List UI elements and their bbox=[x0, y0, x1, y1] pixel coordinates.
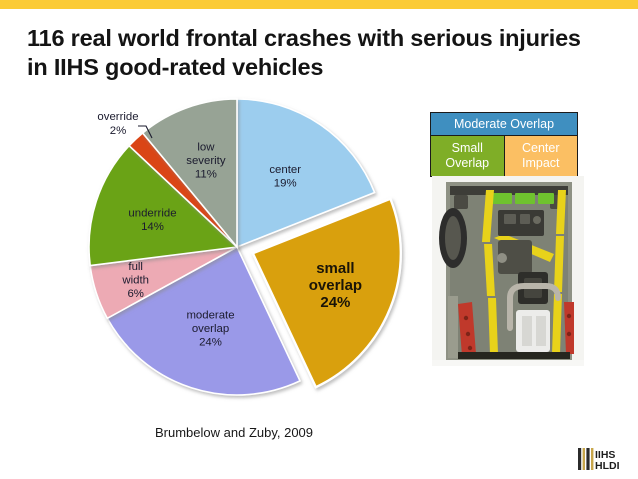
pie-label-full-width-line3: 6% bbox=[127, 288, 143, 300]
pie-label-moderate-overlap-line1: moderate bbox=[186, 310, 234, 322]
legend-cell-small-overlap-line1: Small bbox=[452, 141, 483, 156]
pie-label-underride-line2: 14% bbox=[141, 221, 164, 233]
pie-chart: center19%smalloverlap24%moderateoverlap2… bbox=[80, 90, 410, 410]
iihs-hldi-logo: IIHS HLDI bbox=[578, 447, 624, 473]
pie-slices-group bbox=[89, 99, 401, 395]
logo-text-hldi: HLDI bbox=[595, 460, 620, 472]
pie-label-low-severity-line3: 11% bbox=[195, 169, 217, 181]
pie-label-small-overlap-line1: small bbox=[316, 260, 354, 277]
pie-chart-svg: center19%smalloverlap24%moderateoverlap2… bbox=[80, 90, 410, 410]
pie-callout-override-line1: override bbox=[97, 111, 138, 123]
pie-label-moderate-overlap-line3: 24% bbox=[199, 337, 222, 349]
vehicle-underbody-svg bbox=[432, 176, 584, 366]
slide-root: 116 real world frontal crashes with seri… bbox=[0, 0, 638, 479]
legend-cell-center-impact-line1: Center bbox=[522, 141, 560, 156]
source-caption: Brumbelow and Zuby, 2009 bbox=[155, 425, 313, 440]
vehicle-underbody-photo bbox=[432, 176, 584, 366]
pie-label-moderate-overlap-line2: overlap bbox=[192, 323, 229, 335]
legend-row: Small Overlap Center Impact bbox=[431, 136, 577, 176]
pie-label-full-width-line1: full bbox=[128, 261, 143, 273]
iihs-hldi-logo-svg: IIHS HLDI bbox=[578, 447, 624, 473]
legend-cell-center-impact-line2: Impact bbox=[522, 156, 560, 171]
pie-label-small-overlap-line3: 24% bbox=[320, 294, 350, 311]
top-accent-bar bbox=[0, 0, 638, 9]
pie-label-small-overlap-line2: overlap bbox=[309, 277, 362, 294]
pie-callout-override-line2: 2% bbox=[110, 125, 126, 137]
pie-label-underride-line1: underride bbox=[128, 207, 176, 219]
legend-cell-small-overlap-line2: Overlap bbox=[445, 156, 489, 171]
page-title: 116 real world frontal crashes with seri… bbox=[27, 24, 597, 82]
legend-header-moderate-overlap: Moderate Overlap bbox=[431, 113, 577, 136]
pie-label-center-line2: 19% bbox=[274, 177, 297, 189]
pie-label-full-width-line2: width bbox=[121, 274, 149, 286]
legend-cell-center-impact: Center Impact bbox=[505, 136, 578, 176]
legend-cell-small-overlap: Small Overlap bbox=[431, 136, 505, 176]
pie-label-center-line1: center bbox=[269, 164, 301, 176]
overlap-legend-table: Moderate Overlap Small Overlap Center Im… bbox=[430, 112, 578, 177]
pie-label-low-severity-line2: severity bbox=[186, 155, 226, 167]
pie-label-low-severity-line1: low bbox=[197, 142, 215, 154]
